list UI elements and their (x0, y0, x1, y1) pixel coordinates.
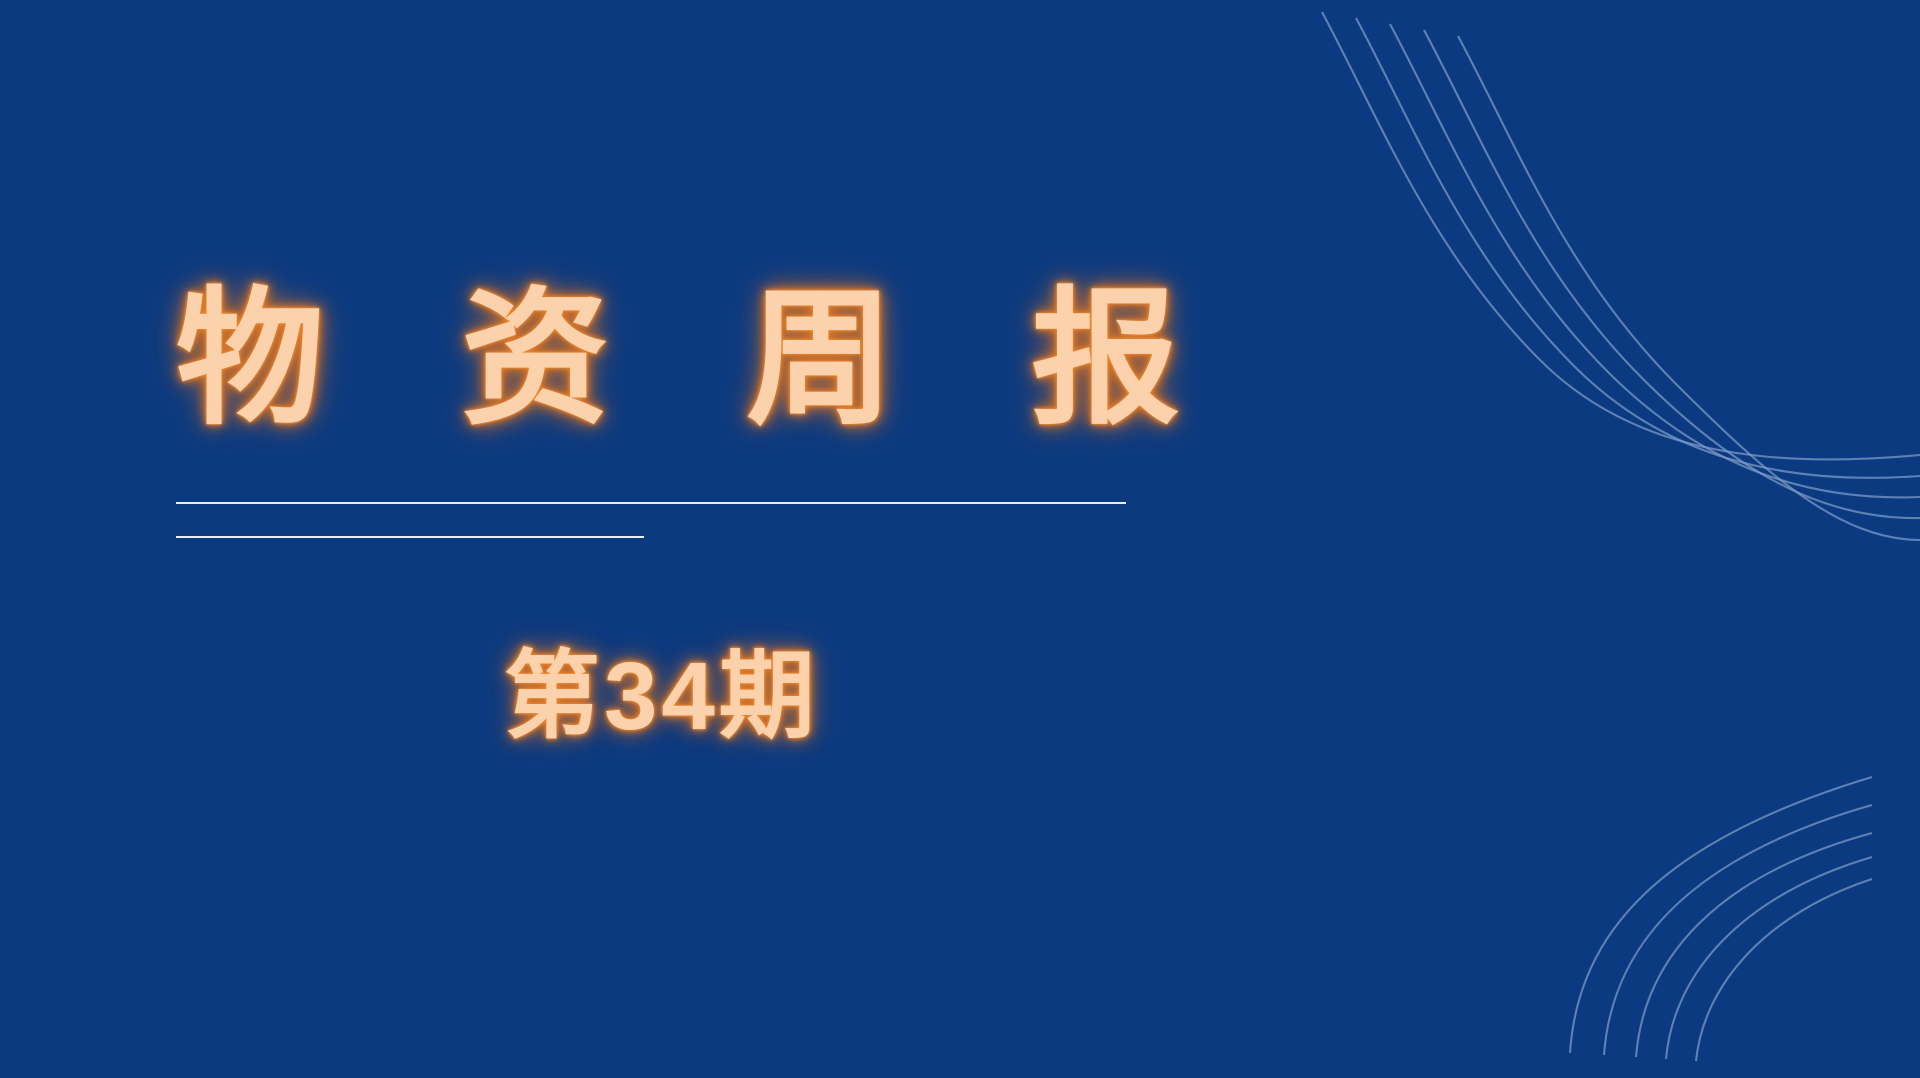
title-slide: 物 资 周 报 第34期 (0, 0, 1920, 1078)
page-title: 物 资 周 报 (176, 286, 1176, 434)
wave-line-4 (1424, 30, 1920, 518)
arc-line-5 (1696, 879, 1872, 1061)
title-underline-short (176, 536, 644, 546)
wave-line-5 (1458, 36, 1920, 540)
issue-subtitle: 第34期 (504, 644, 819, 750)
wave-line-2 (1356, 18, 1920, 478)
title-underline-long (176, 502, 1126, 512)
top-right-wave-decoration (1280, 0, 1920, 560)
arc-line-2 (1604, 805, 1872, 1055)
wave-line-3 (1390, 24, 1920, 497)
arc-line-4 (1666, 857, 1872, 1059)
arc-line-3 (1636, 833, 1872, 1057)
wave-line-1 (1322, 12, 1920, 460)
arc-line-1 (1570, 777, 1872, 1053)
bottom-right-arc-decoration (1500, 733, 1920, 1078)
title-block: 物 资 周 报 (176, 286, 1176, 434)
